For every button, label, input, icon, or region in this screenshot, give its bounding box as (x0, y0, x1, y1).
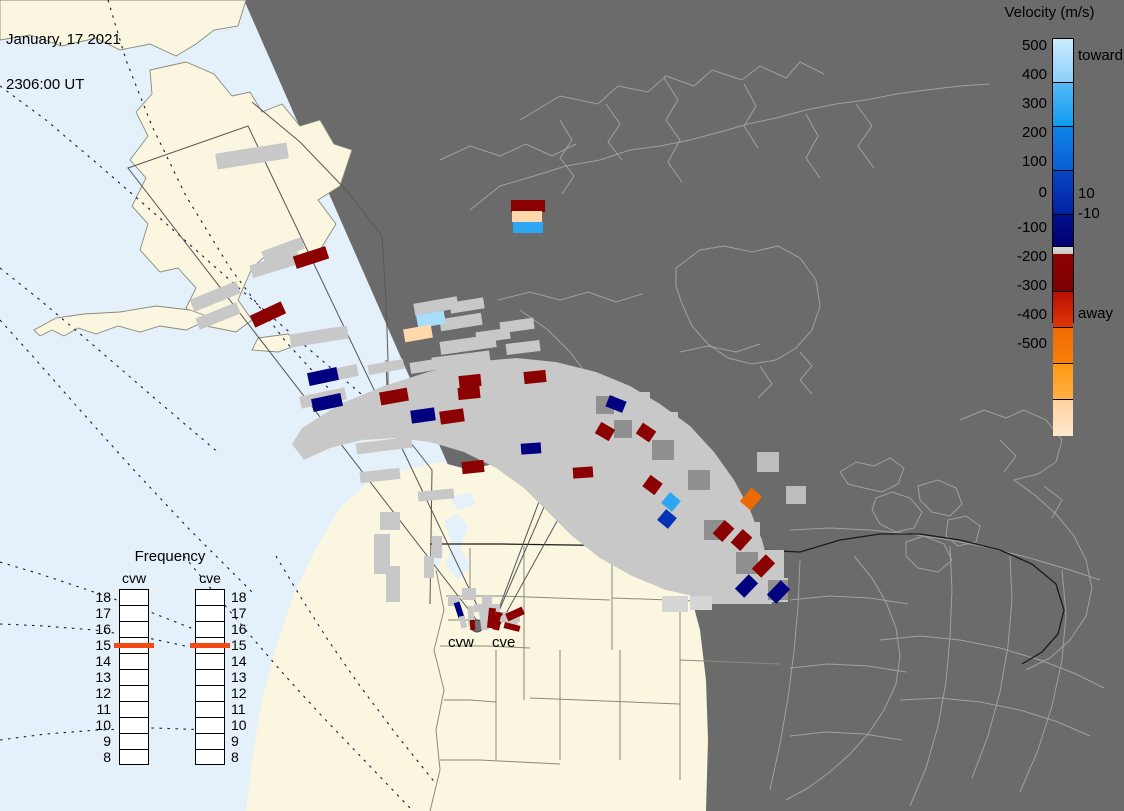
velocity-colorbar-segment-toward_100 (1053, 215, 1073, 247)
frequency-tick-cve-17: 17 (231, 606, 255, 620)
frequency-tick-cvw-8: 8 (87, 750, 111, 764)
velocity-tick-100: 100 (1022, 154, 1047, 169)
velocity-tick-300: 300 (1022, 96, 1047, 111)
frequency-tick-cvw-11: 11 (87, 702, 111, 716)
velocity-colorbar-segment-toward_300 (1053, 127, 1073, 171)
frequency-scale-row (196, 606, 224, 622)
frequency-tick-cve-14: 14 (231, 654, 255, 668)
velocity-colorbar (1052, 38, 1074, 323)
frequency-scale-row (196, 654, 224, 670)
velocity-colorbar-segment-away_300 (1053, 328, 1073, 364)
frequency-scale-box-cvw (119, 589, 149, 765)
velocity-tick--400: -400 (1017, 307, 1047, 322)
velocity-tick-200: 200 (1022, 125, 1047, 140)
frequency-tick-cve-10: 10 (231, 718, 255, 732)
velocity-upper-inner-label: 10 (1078, 186, 1095, 201)
velocity-legend-title: Velocity (m/s) (975, 4, 1124, 21)
frequency-tick-cve-15: 15 (231, 638, 255, 652)
frequency-scale-row (196, 590, 224, 606)
velocity-tick--100: -100 (1017, 220, 1047, 235)
frequency-scale-row (120, 606, 148, 622)
frequency-tick-cve-11: 11 (231, 702, 255, 716)
velocity-cell (457, 386, 480, 400)
frequency-scale-row (196, 734, 224, 750)
velocity-colorbar-segment-away_400 (1053, 364, 1073, 400)
frequency-tick-cvw-16: 16 (87, 622, 111, 636)
velocity-colorbar-segment-toward_500 (1053, 39, 1073, 83)
fan-plot-canvas: January, 17 2021 2306:00 UT Velocity (m/… (0, 0, 1124, 811)
frequency-column-label-cve: cve (187, 570, 233, 586)
velocity-toward-label: toward (1078, 48, 1123, 63)
frequency-scale-row (120, 702, 148, 718)
velocity-lower-inner-label: -10 (1078, 206, 1100, 221)
frequency-tick-cvw-15: 15 (87, 638, 111, 652)
frequency-scale-row (196, 718, 224, 734)
velocity-tick--500: -500 (1017, 336, 1047, 351)
frequency-scale-row (120, 686, 148, 702)
velocity-colorbar-segment-away_100 (1053, 254, 1073, 292)
frequency-scale-row (196, 670, 224, 686)
frequency-scale-row (120, 750, 148, 766)
velocity-tick-0: 0 (1039, 185, 1047, 200)
frequency-tick-cvw-14: 14 (87, 654, 111, 668)
velocity-away-label: away (1078, 306, 1113, 321)
velocity-tick--300: -300 (1017, 278, 1047, 293)
site-label-cvw: cvw (448, 634, 474, 651)
timestamp-block: January, 17 2021 2306:00 UT (6, 2, 121, 122)
frequency-scale-row (120, 734, 148, 750)
velocity-colorbar-segment-away_500 (1053, 400, 1073, 436)
time-label: 2306:00 UT (6, 77, 121, 92)
frequency-tick-cve-8: 8 (231, 750, 255, 764)
frequency-scale-row (120, 654, 148, 670)
frequency-scale-row (196, 622, 224, 638)
frequency-scale-row (120, 622, 148, 638)
velocity-cell (573, 466, 594, 478)
site-label-cve: cve (492, 634, 515, 651)
date-label: January, 17 2021 (6, 32, 121, 47)
frequency-tick-cvw-9: 9 (87, 734, 111, 748)
velocity-colorbar-segment-toward_400 (1053, 83, 1073, 127)
velocity-tick-labels: 5004003002001000-100-200-300-400-500 (995, 30, 1047, 330)
frequency-marker-cve (190, 643, 230, 648)
frequency-scale-row (196, 686, 224, 702)
frequency-tick-cve-18: 18 (231, 590, 255, 604)
velocity-tick--200: -200 (1017, 249, 1047, 264)
velocity-cell (521, 442, 542, 454)
frequency-tick-cve-13: 13 (231, 670, 255, 684)
frequency-scale-row (120, 670, 148, 686)
frequency-legend-title: Frequency (95, 548, 245, 565)
velocity-colorbar-segment-away_200 (1053, 292, 1073, 328)
frequency-legend: Frequency cvw18171615141312111098cve1817… (95, 548, 245, 780)
frequency-tick-cvw-10: 10 (87, 718, 111, 732)
frequency-scale-box-cve (195, 589, 225, 765)
velocity-colorbar-segment-zero_band (1053, 247, 1073, 254)
velocity-cell (513, 222, 543, 233)
velocity-colorbar-segment-toward_200 (1053, 171, 1073, 215)
frequency-scale-row (120, 590, 148, 606)
frequency-tick-cve-12: 12 (231, 686, 255, 700)
frequency-tick-cvw-18: 18 (87, 590, 111, 604)
velocity-cell (512, 211, 542, 222)
frequency-tick-cve-16: 16 (231, 622, 255, 636)
frequency-tick-cvw-12: 12 (87, 686, 111, 700)
velocity-cell (523, 370, 546, 384)
velocity-cell (458, 374, 481, 388)
frequency-tick-cve-9: 9 (231, 734, 255, 748)
frequency-tick-cvw-17: 17 (87, 606, 111, 620)
velocity-direction-labels: toward10-10away (1078, 30, 1124, 330)
frequency-tick-cvw-13: 13 (87, 670, 111, 684)
frequency-column-label-cvw: cvw (111, 570, 157, 586)
frequency-scale-row (120, 718, 148, 734)
velocity-cell (461, 460, 484, 474)
velocity-tick-500: 500 (1022, 38, 1047, 53)
frequency-marker-cvw (114, 643, 154, 648)
velocity-cell (511, 200, 545, 212)
frequency-scale-row (196, 750, 224, 766)
velocity-tick-400: 400 (1022, 67, 1047, 82)
frequency-scale-row (196, 702, 224, 718)
